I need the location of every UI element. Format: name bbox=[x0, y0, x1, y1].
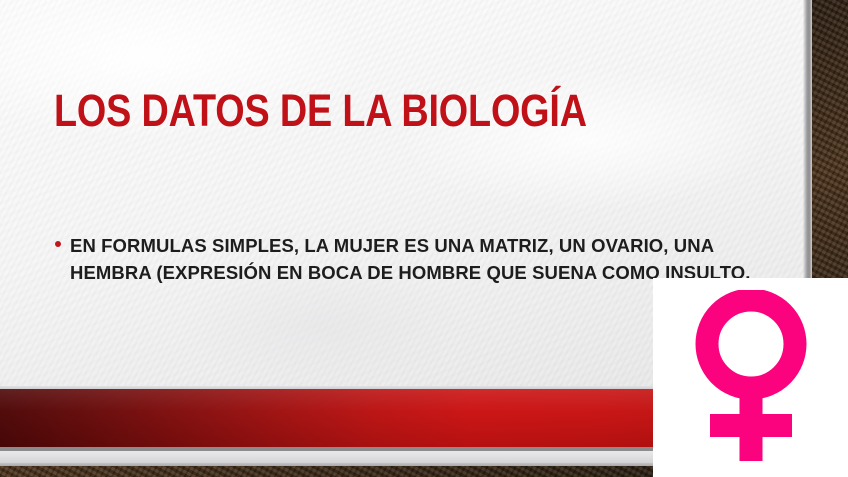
presentation-slide: LOS DATOS DE LA BIOLOGÍA EN FORMULAS SIM… bbox=[0, 0, 848, 477]
bullet-text: EN FORMULAS SIMPLES, LA MUJER ES UNA MAT… bbox=[70, 235, 751, 283]
bullet-dot-icon bbox=[55, 241, 61, 247]
page-title: LOS DATOS DE LA BIOLOGÍA bbox=[54, 86, 587, 136]
female-gender-icon bbox=[681, 290, 821, 465]
venus-symbol-panel bbox=[653, 278, 848, 477]
